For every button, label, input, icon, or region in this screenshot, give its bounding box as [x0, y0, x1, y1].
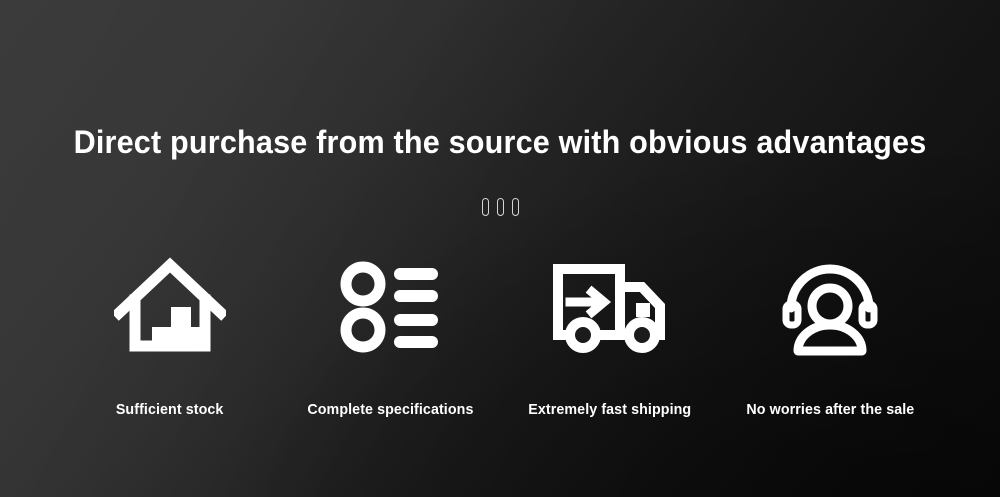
feature-item-no-worries-after-sale: No worries after the sale: [720, 258, 940, 420]
feature-label: Complete specifications: [307, 400, 473, 420]
warehouse-boxes-icon: [114, 258, 226, 354]
divider-ornament: [0, 198, 1000, 216]
banner-headline: Direct purchase from the source with obv…: [23, 122, 978, 162]
divider-pill-icon: [482, 198, 489, 216]
feature-item-complete-specifications: Complete specifications: [280, 258, 500, 420]
feature-label: No worries after the sale: [746, 400, 914, 420]
promo-banner: Direct purchase from the source with obv…: [0, 0, 1000, 497]
feature-label: Sufficient stock: [116, 400, 224, 420]
divider-pill-icon: [497, 198, 504, 216]
feature-item-extremely-fast-shipping: Extremely fast shipping: [500, 258, 720, 420]
headset-support-agent-icon: [774, 258, 886, 354]
delivery-truck-icon: [550, 258, 670, 354]
feature-list: Sufficient stock Complete specifications: [60, 258, 940, 420]
divider-pill-icon: [512, 198, 519, 216]
feature-label: Extremely fast shipping: [529, 400, 692, 420]
specification-list-icon: [334, 258, 446, 354]
feature-item-sufficient-stock: Sufficient stock: [60, 258, 280, 420]
banner-content: Direct purchase from the source with obv…: [0, 0, 1000, 497]
